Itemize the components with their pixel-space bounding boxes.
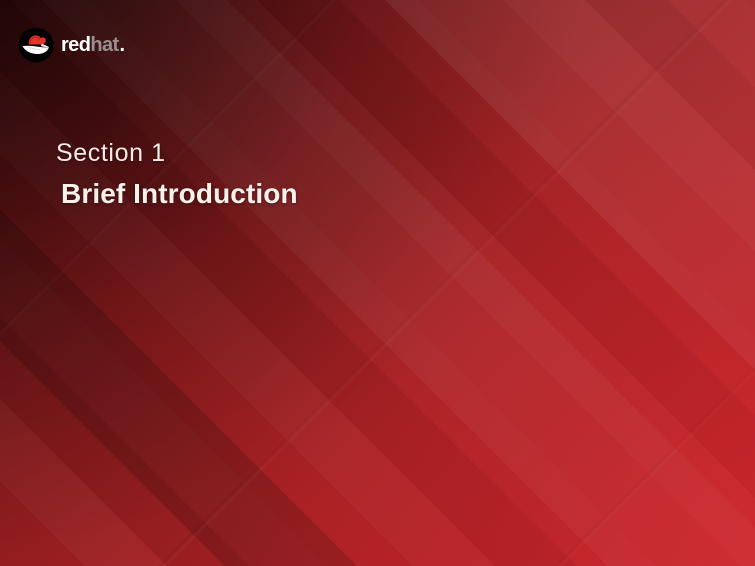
slide-background-diagonal-bands	[0, 0, 755, 566]
page-title: Brief Introduction	[61, 176, 755, 212]
redhat-wordmark: redhat.	[61, 35, 125, 55]
redhat-shadowman-icon	[18, 27, 54, 63]
presentation-slide: redhat. Section 1 Brief Introduction	[0, 0, 755, 566]
redhat-logo: redhat.	[18, 27, 125, 63]
slide-background-gradient	[0, 0, 755, 566]
wordmark-dot: .	[120, 35, 125, 55]
slide-background-wedges	[0, 0, 755, 566]
slide-title-block: Section 1 Brief Introduction	[0, 136, 755, 212]
slide-background-lattice	[0, 0, 755, 566]
wordmark-red: red	[61, 35, 90, 55]
slide-background-corner-shade	[0, 0, 755, 566]
slide-background-glow	[0, 0, 755, 566]
wordmark-hat: hat	[90, 35, 118, 55]
section-label: Section 1	[56, 136, 755, 170]
